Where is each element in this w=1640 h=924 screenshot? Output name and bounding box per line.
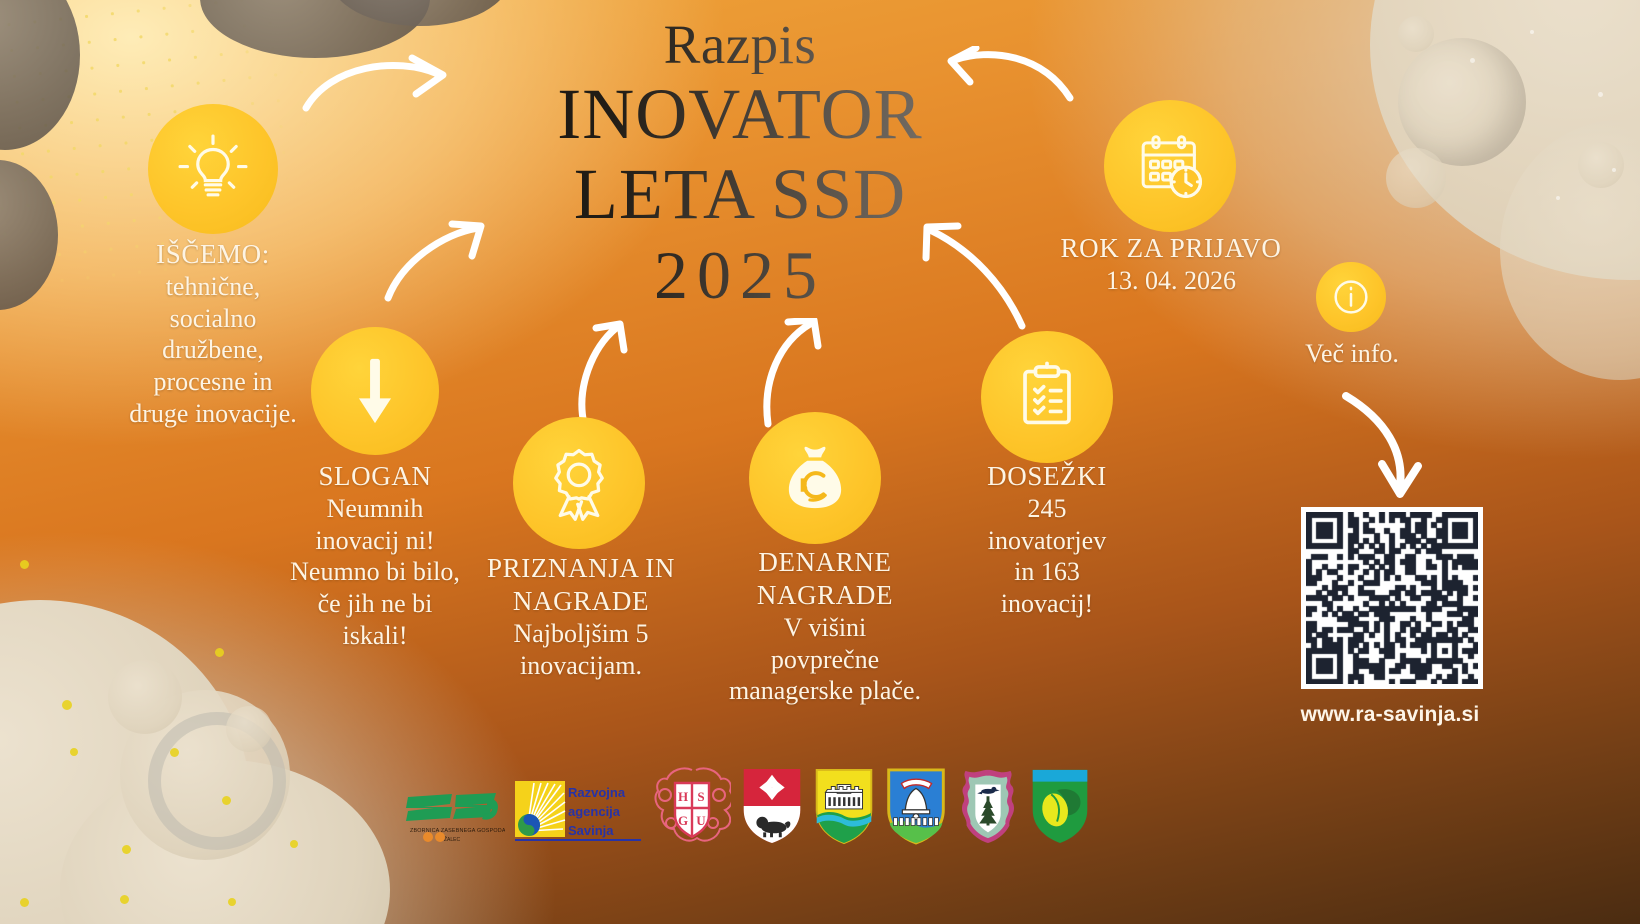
pale-blob-right-mid [1500, 120, 1640, 380]
block-dosezki: DOSEŽKI 245 inovatorjev in 163 inovacij! [942, 460, 1152, 620]
block-slogan-body: Neumnih inovacij ni! Neumno bi bilo, če … [258, 493, 492, 652]
clipboard-checklist-icon [1010, 360, 1084, 434]
pale-blob-small-b [226, 706, 272, 752]
svg-text:Savinja: Savinja [568, 823, 614, 838]
spark-dot [1470, 58, 1475, 63]
svg-text:G: G [678, 813, 688, 828]
crest-tree-bird [957, 767, 1019, 847]
ring-decoration [148, 712, 286, 850]
block-dosezki-heading: DOSEŽKI [942, 460, 1152, 493]
crest-ornate-hsgu-mark: H S G U [653, 765, 731, 847]
svg-text:ŽALEC: ŽALEC [444, 835, 461, 843]
yellow-dot [20, 898, 29, 907]
info-circle-icon-circle[interactable] [1316, 262, 1386, 332]
block-rok-body: 13. 04. 2026 [1040, 265, 1302, 297]
calendar-clock-icon [1131, 127, 1209, 205]
block-iscemo: IŠČEMO: tehnične, socialno družbene, pro… [96, 238, 330, 430]
spark-dot [1598, 92, 1603, 97]
pale-blob-small-c [1398, 16, 1434, 52]
block-slogan: SLOGAN Neumnih inovacij ni! Neumno bi bi… [258, 460, 492, 652]
title-line-leta-ssd: LETA SSD [460, 154, 1020, 235]
block-priznanja-heading: PRIZNANJA IN NAGRADE [468, 552, 694, 618]
block-denarne-body: V višini povprečne managerske plače. [710, 612, 940, 707]
arrow-priznanja-to-title [566, 320, 636, 430]
crest-bell-mark [885, 767, 947, 845]
block-dosezki-body: 245 inovatorjev in 163 inovacij! [942, 493, 1152, 620]
svg-text:U: U [696, 813, 706, 828]
yellow-dot [20, 560, 29, 569]
arrow-down-icon [348, 354, 402, 428]
razvojna-agencija-savinja-logo: Razvojna agencija Savinja [515, 775, 643, 847]
yellow-dot [122, 845, 131, 854]
lightbulb-icon [174, 130, 252, 208]
crest-tree-bird-mark [957, 767, 1019, 845]
pale-blob-small-e [1386, 148, 1446, 208]
qr-code-canvas [1306, 512, 1478, 684]
title-line-razpis: Razpis [460, 16, 1020, 74]
poster-title: Razpis INOVATOR LETA SSD 2025 [460, 16, 1020, 317]
money-bag-euro-icon-circle [749, 412, 881, 544]
block-vec-info: Več info. [1266, 338, 1438, 370]
block-rok: ROK ZA PRIJAVO 13. 04. 2026 [1040, 232, 1302, 297]
block-denarne-heading: DENARNE NAGRADE [710, 546, 940, 612]
crest-castle [813, 767, 875, 847]
block-slogan-heading: SLOGAN [258, 460, 492, 493]
website-url[interactable]: www.ra-savinja.si [1240, 703, 1540, 727]
clipboard-checklist-icon-circle [981, 331, 1113, 463]
crest-bell [885, 767, 947, 847]
yellow-dot [228, 898, 236, 906]
block-priznanja: PRIZNANJA IN NAGRADE Najboljšim 5 inovac… [468, 552, 694, 681]
award-ribbon-icon-circle [513, 417, 645, 549]
info-circle-icon [1328, 274, 1374, 320]
title-line-inovator: INOVATOR [460, 74, 1020, 155]
sphere-decoration [1398, 38, 1526, 166]
money-bag-euro-icon [774, 437, 856, 519]
yellow-dot [290, 840, 298, 848]
title-line-year: 2025 [460, 235, 1020, 317]
pale-blob-small-d [1578, 142, 1624, 188]
arrow-down-icon-circle [311, 327, 439, 455]
crest-ornate-hsgu: H S G U [653, 765, 731, 847]
yellow-dot [215, 648, 224, 657]
yellow-dot [120, 895, 129, 904]
spark-dot [1612, 168, 1616, 172]
calendar-clock-icon-circle [1104, 100, 1236, 232]
award-ribbon-icon [539, 443, 619, 523]
partner-logos: ZBORNICA ZASEBNEGA GOSPODARSTVA ŽALEC [400, 742, 1120, 847]
pale-blob-small-a [108, 660, 182, 734]
yellow-dot [222, 796, 231, 805]
block-denarne: DENARNE NAGRADE V višini povprečne manag… [710, 546, 940, 707]
crest-green-leaf-mark [1029, 767, 1091, 845]
svg-text:agencija: agencija [568, 804, 621, 819]
svg-text:H: H [678, 789, 688, 804]
crest-castle-mark [813, 767, 875, 845]
spark-dot [1556, 196, 1560, 200]
zzg-logo-mark: ZBORNICA ZASEBNEGA GOSPODARSTVA ŽALEC [400, 785, 505, 847]
block-rok-heading: ROK ZA PRIJAVO [1040, 232, 1302, 265]
svg-text:ZBORNICA ZASEBNEGA GOSPODARSTV: ZBORNICA ZASEBNEGA GOSPODARSTVA [410, 828, 505, 834]
block-vec-info-heading: Več info. [1266, 338, 1438, 370]
razvojna-agencija-savinja-logo-mark: Razvojna agencija Savinja [515, 775, 643, 847]
crest-maltese-cross-lion-mark [741, 767, 803, 845]
yellow-dot [62, 700, 72, 710]
yellow-dot [170, 748, 179, 757]
crest-maltese-cross-lion [741, 767, 803, 847]
svg-text:Razvojna: Razvojna [568, 785, 626, 800]
crest-green-leaf [1029, 767, 1091, 847]
qr-code[interactable] [1301, 507, 1483, 689]
lightbulb-icon-circle [148, 104, 278, 234]
block-iscemo-body: tehnične, socialno družbene, procesne in… [96, 271, 330, 430]
pale-blob-top-right [1370, 0, 1640, 280]
pale-blob-bottom-center [120, 690, 290, 860]
pale-blob-bottom-left [0, 600, 250, 924]
poster-canvas: Razpis INOVATOR LETA SSD 2025 IŠČEMO: te… [0, 0, 1640, 924]
block-iscemo-heading: IŠČEMO: [96, 238, 330, 271]
yellow-dot [70, 748, 78, 756]
arrow-info-to-qr [1338, 390, 1428, 500]
spark-dot [1530, 30, 1534, 34]
block-priznanja-body: Najboljšim 5 inovacijam. [468, 618, 694, 681]
pale-blob-bottom-left-2 [60, 760, 390, 924]
svg-text:S: S [697, 789, 704, 804]
zzg-logo: ZBORNICA ZASEBNEGA GOSPODARSTVA ŽALEC [400, 785, 505, 847]
